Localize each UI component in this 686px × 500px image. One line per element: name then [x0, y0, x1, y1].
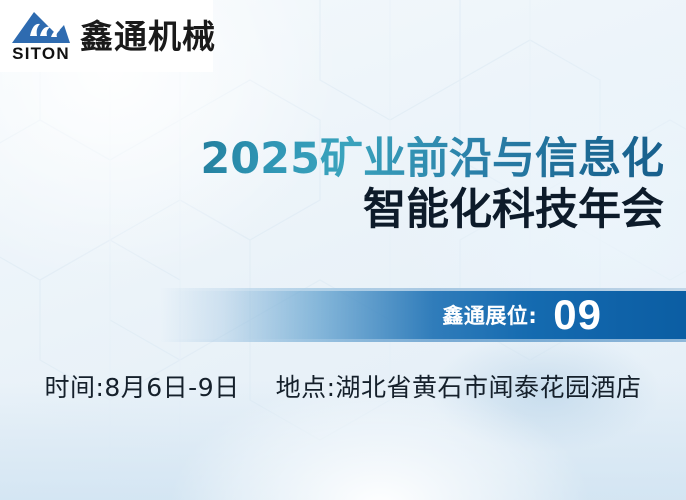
hexagon-pattern-background	[0, 0, 686, 500]
poster-title: 2025矿业前沿与信息化 智能化科技年会	[0, 136, 664, 234]
brand-logo: SITON 鑫通机械	[0, 0, 213, 72]
logo-latin-name: SITON	[12, 45, 70, 62]
booth-banner: 鑫通展位: 09	[160, 288, 686, 342]
logo-chinese-name: 鑫通机械	[80, 20, 216, 53]
booth-number: 09	[553, 294, 602, 336]
event-date: 时间:8月6日-9日	[44, 368, 239, 404]
title-line-primary: 2025矿业前沿与信息化	[0, 136, 664, 182]
title-line-secondary: 智能化科技年会	[0, 186, 664, 234]
mountain-logo-icon: SITON	[8, 7, 74, 65]
booth-label: 鑫通展位:	[442, 300, 537, 330]
event-details: 时间:8月6日-9日 地点:湖北省黄石市闻泰花园酒店	[0, 368, 686, 404]
event-venue: 地点:湖北省黄石市闻泰花园酒店	[276, 368, 642, 404]
event-poster: SITON 鑫通机械 2025矿业前沿与信息化 智能化科技年会 鑫通展位: 09…	[0, 0, 686, 500]
